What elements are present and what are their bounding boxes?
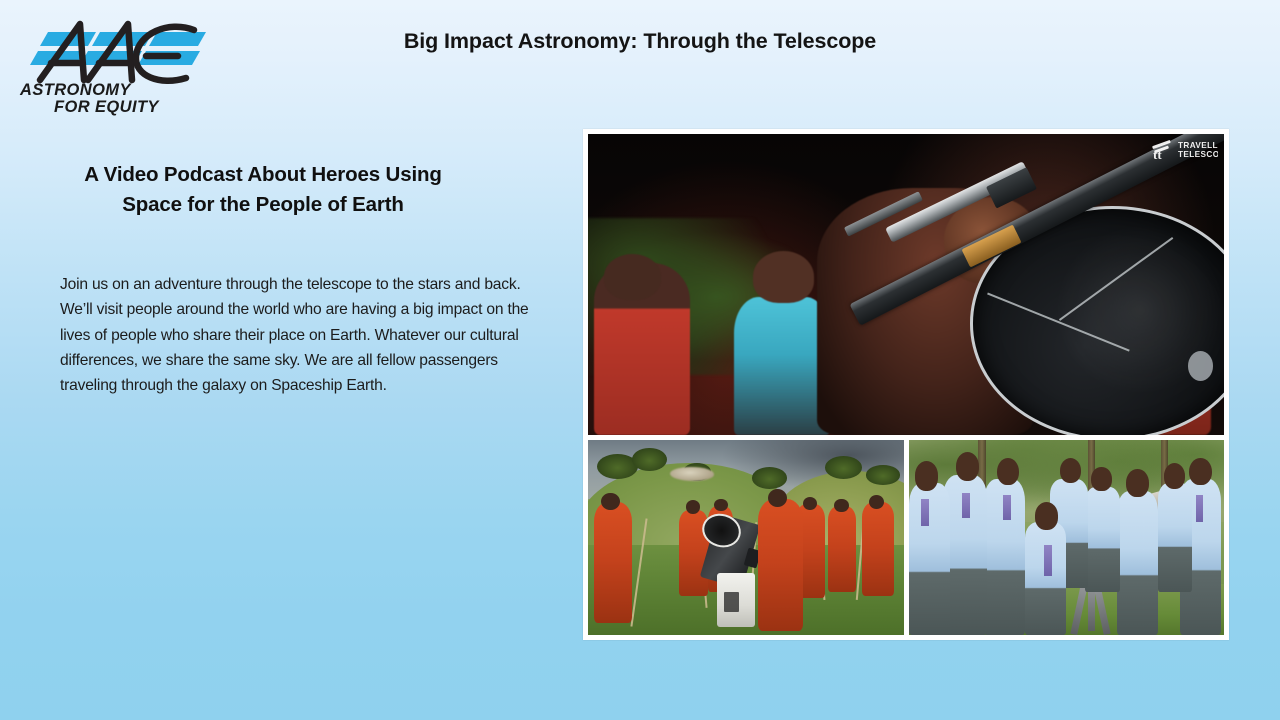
photo-child-left-head [604,254,661,299]
photo-maasai-telescope [588,440,904,635]
travelling-telescope-watermark: tt TRAVELL TELESCO [1151,140,1218,160]
photo-person-head [834,499,849,513]
photo-student-head [1035,502,1059,529]
photo-student-head [956,452,980,481]
photo-child-midleft-body [734,297,829,435]
photo-telescope-base-label [724,592,740,612]
photo-student [1117,491,1158,635]
photo-student [1158,483,1193,592]
photo-rock-outcrop [670,467,714,481]
photo-students-telescope [909,440,1225,635]
photo-person-head [869,495,884,509]
photo-student-head [915,461,939,490]
slide-canvas: ASTRONOMY FOR EQUITY Big Impact Astronom… [0,0,1280,720]
photo-person [828,506,856,592]
watermark-text: TRAVELL TELESCO [1178,141,1218,160]
logo-tagline-line1: ASTRONOMY [20,82,213,99]
photo-person [594,502,632,623]
a4e-logo: ASTRONOMY FOR EQUITY [18,14,213,119]
subheading-line2: Space for the People of Earth [48,190,478,220]
subheading-line1: A Video Podcast About Heroes Using [48,160,478,190]
photo-student-head [1126,469,1149,496]
watermark-line2: TELESCO [1178,150,1218,159]
photo-night-observing: tt TRAVELL TELESCO [588,134,1224,435]
photo-tree [825,456,863,479]
photo-person [758,499,802,632]
photo-student-head [1164,463,1185,488]
watermark-line1: TRAVELL [1178,141,1218,150]
photo-telescope-secondary-mirror [1188,351,1213,381]
photo-student-tie [1044,545,1052,576]
photo-person [862,502,894,596]
photo-student [1085,487,1120,592]
photo-tree [632,448,667,471]
a4e-logo-tagline: ASTRONOMY FOR EQUITY [18,82,213,122]
photo-tree [752,467,787,488]
photo-student-tie [921,499,929,526]
photo-student-tie [1003,495,1011,520]
subheading: A Video Podcast About Heroes Using Space… [48,160,478,220]
photo-student-tie [1196,495,1204,522]
photo-collage: tt TRAVELL TELESCO [583,129,1229,640]
logo-tagline-line2: FOR EQUITY [54,99,213,116]
photo-student [909,483,950,635]
travelling-telescope-icon: tt [1151,140,1173,160]
photo-student-head [1060,458,1081,483]
photo-person-head [803,497,818,511]
collage-bottom-row [588,440,1224,635]
photo-student-head [1189,458,1212,485]
photo-person-head [601,493,620,511]
photo-student-at-eyepiece [1025,522,1066,635]
photo-student-head [997,458,1019,485]
page-title: Big Impact Astronomy: Through the Telesc… [240,29,1040,54]
photo-tree [866,465,901,485]
photo-student-head [1091,467,1111,490]
body-paragraph: Join us on an adventure through the tele… [60,272,530,398]
photo-child-midleft-head [753,251,813,302]
photo-student-tie [962,493,970,518]
